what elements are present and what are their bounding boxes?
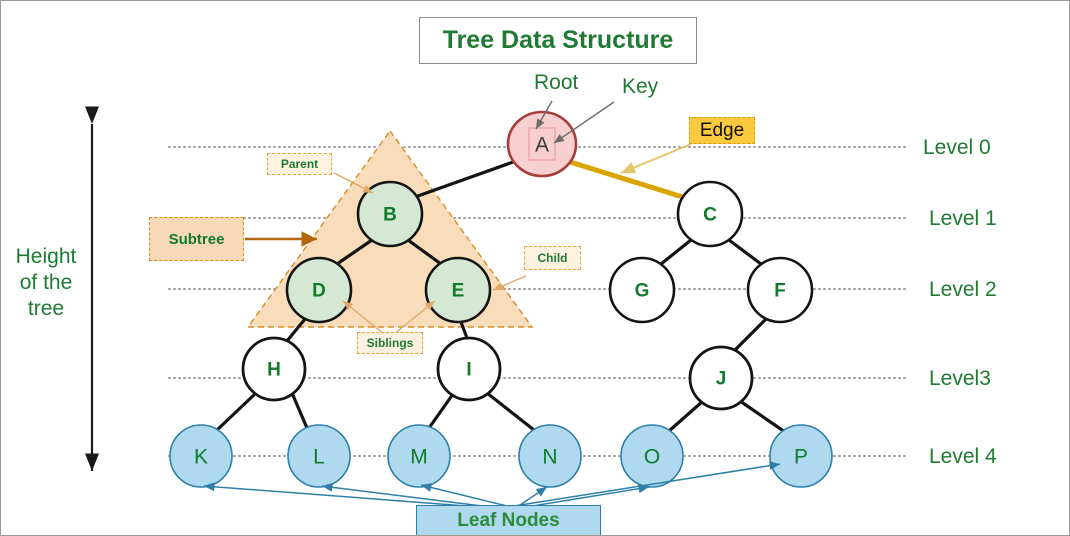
edge-J-O — [669, 401, 703, 431]
level-label-1: Level 1 — [929, 207, 997, 231]
diagram-title-box: Tree Data Structure — [419, 17, 697, 64]
edge-A-B — [415, 161, 516, 197]
parent-callout-label: Parent — [281, 157, 318, 171]
level-label-0: Level 0 — [923, 136, 991, 160]
edge-pointer — [621, 144, 691, 173]
child-callout-box: Child — [524, 246, 581, 270]
siblings-callout-label: Siblings — [367, 336, 414, 350]
height-line-2: of the — [7, 270, 85, 296]
node-L-label: L — [313, 446, 325, 469]
edge-C-G — [661, 240, 691, 264]
node-H-label: H — [267, 360, 281, 381]
child-callout-label: Child — [538, 251, 568, 265]
node-E-label: E — [452, 281, 465, 302]
node-N-label: N — [542, 446, 557, 469]
level-label-3: Level3 — [929, 367, 991, 391]
node-M-label: M — [410, 446, 428, 469]
diagram-canvas: A B C D E G F H I — [0, 0, 1070, 536]
edge-A-C-highlighted — [567, 161, 689, 199]
level-label-4: Level 4 — [929, 445, 997, 469]
height-line-3: tree — [7, 296, 85, 322]
edge-I-M — [429, 394, 453, 428]
node-A-label: A — [535, 134, 549, 157]
node-P-label: P — [794, 446, 808, 469]
node-C-label: C — [703, 205, 717, 226]
level-label-2: Level 2 — [929, 278, 997, 302]
edge-J-P — [740, 401, 785, 432]
edge-I-N — [487, 393, 534, 430]
parent-callout-box: Parent — [267, 153, 332, 175]
root-annotation-label: Root — [534, 71, 578, 95]
leaf-node-pointers — [204, 464, 780, 509]
leaf-nodes-callout-label: Leaf Nodes — [457, 510, 559, 532]
leaf-nodes-callout-box: Leaf Nodes — [416, 505, 601, 536]
subtree-callout-box: Subtree — [149, 217, 244, 261]
height-of-tree-label: Height of the tree — [7, 244, 85, 322]
edge-F-J — [734, 318, 767, 351]
key-annotation-label: Key — [622, 75, 658, 99]
subtree-callout-label: Subtree — [169, 231, 225, 248]
edge-C-F — [729, 240, 761, 264]
node-G-label: G — [635, 281, 650, 302]
node-D-label: D — [312, 281, 326, 302]
node-O-label: O — [644, 446, 660, 469]
edge-H-K — [217, 393, 256, 430]
siblings-callout-box: Siblings — [357, 332, 423, 354]
edge-callout-label: Edge — [700, 120, 744, 142]
page-title: Tree Data Structure — [443, 26, 674, 55]
height-line-1: Height — [7, 244, 85, 270]
node-J-label: J — [716, 369, 727, 390]
node-F-label: F — [774, 281, 786, 302]
node-B-label: B — [383, 205, 397, 226]
node-I-label: I — [466, 360, 471, 381]
edge-H-L — [292, 393, 307, 428]
node-K-label: K — [194, 446, 208, 469]
edge-callout-box: Edge — [689, 117, 755, 144]
